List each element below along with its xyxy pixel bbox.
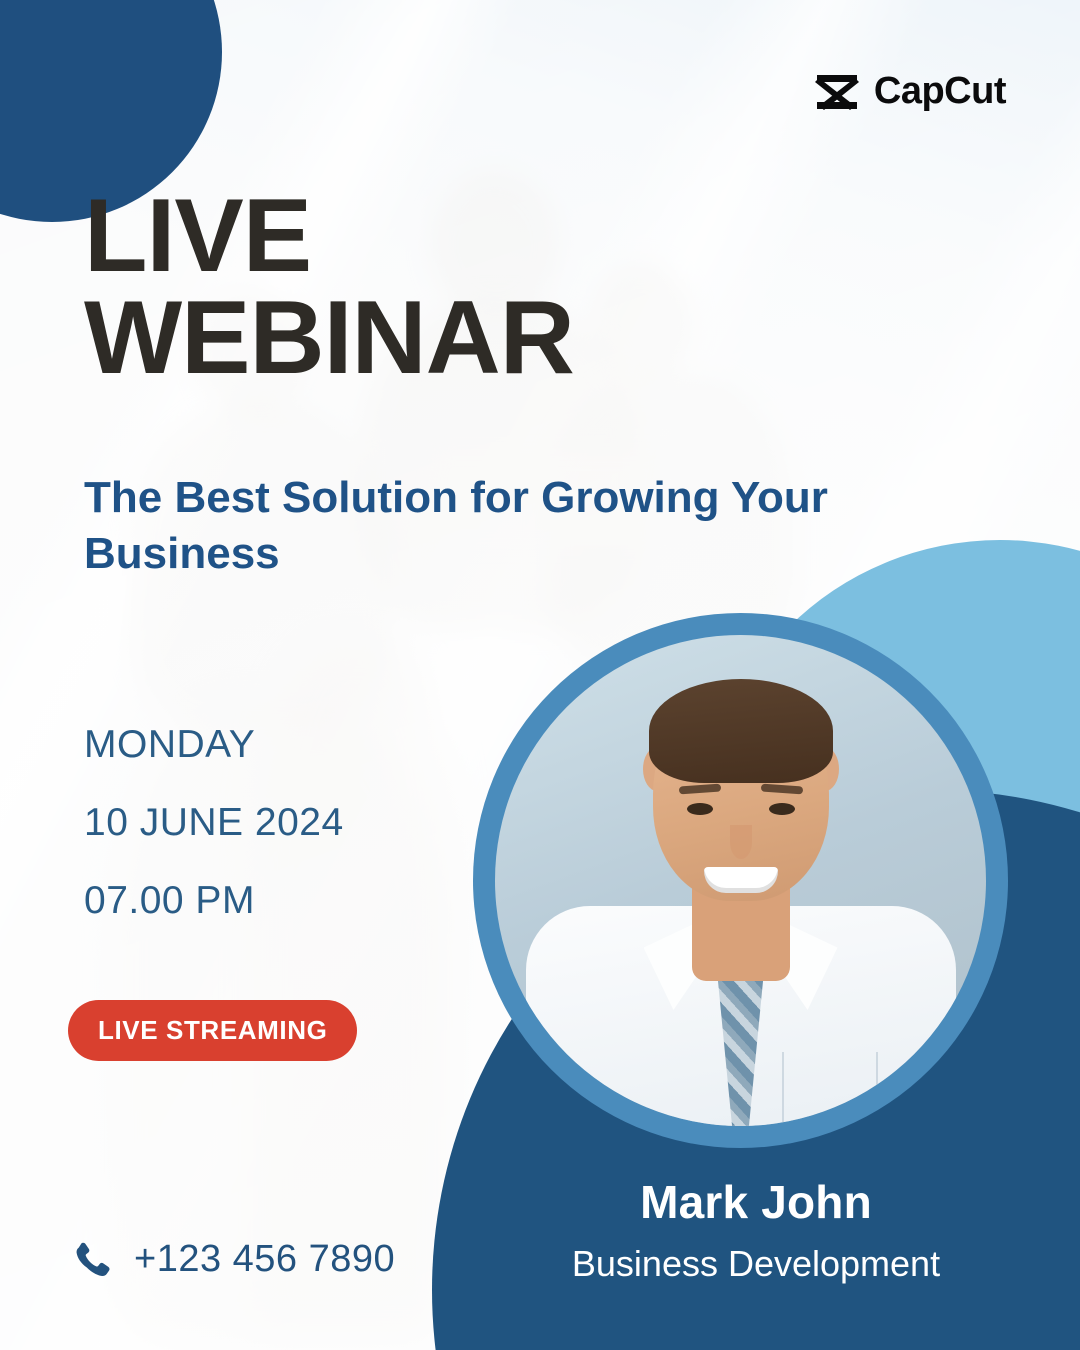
capcut-bowtie-icon xyxy=(814,72,860,112)
speaker-portrait xyxy=(495,635,986,1126)
subtitle: The Best Solution for Growing Your Busin… xyxy=(84,470,844,583)
speaker-info: Mark John Business Development xyxy=(432,1175,1080,1285)
portrait-hair xyxy=(649,679,833,783)
headline-line-2: WEBINAR xyxy=(84,288,574,390)
schedule-block: MONDAY 10 JUNE 2024 07.00 PM xyxy=(84,706,344,940)
schedule-time: 07.00 PM xyxy=(84,862,344,940)
webinar-poster: CapCut LIVE WEBINAR The Best Solution fo… xyxy=(0,0,1080,1350)
schedule-date: 10 JUNE 2024 xyxy=(84,784,344,862)
portrait-eye xyxy=(769,803,795,815)
speaker-role: Business Development xyxy=(432,1243,1080,1285)
portrait-nose xyxy=(730,825,752,859)
portrait-shirt-pocket xyxy=(782,1052,878,1126)
capcut-logo[interactable]: CapCut xyxy=(814,70,1006,113)
headline-line-1: LIVE xyxy=(84,178,311,294)
page-title: LIVE WEBINAR xyxy=(84,186,574,390)
phone-number: +123 456 7890 xyxy=(134,1238,395,1281)
schedule-day: MONDAY xyxy=(84,706,344,784)
phone-icon xyxy=(70,1239,112,1281)
speaker-name: Mark John xyxy=(432,1175,1080,1229)
capcut-logo-text: CapCut xyxy=(874,70,1006,113)
live-streaming-badge[interactable]: LIVE STREAMING xyxy=(68,1000,357,1061)
contact-phone[interactable]: +123 456 7890 xyxy=(70,1238,395,1281)
portrait-eye xyxy=(687,803,713,815)
portrait-smile xyxy=(704,867,778,893)
